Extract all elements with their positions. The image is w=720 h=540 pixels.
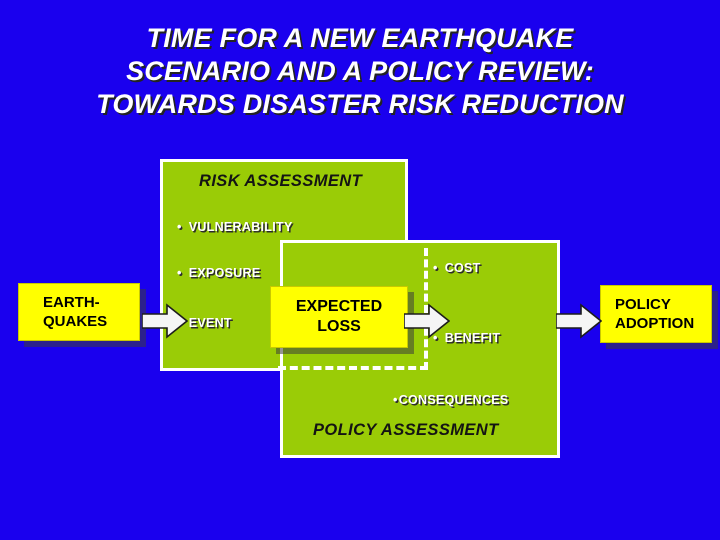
slide-canvas: TIME FOR A NEW EARTHQUAKE SCENARIO AND A… bbox=[0, 0, 720, 540]
bullet-dot-icon: • bbox=[177, 266, 182, 280]
arrow-right-icon-loss-to-policy bbox=[404, 303, 450, 339]
bullet-vulnerability: •VULNERABILITY bbox=[177, 220, 293, 234]
bullet-label: EXPOSURE bbox=[189, 266, 261, 280]
bullet-dot-icon: • bbox=[433, 261, 438, 275]
policy-adoption-label: POLICY ADOPTION bbox=[615, 295, 694, 333]
bullet-exposure: •EXPOSURE bbox=[177, 266, 261, 280]
bullet-dot-icon: • bbox=[177, 220, 182, 234]
bullet-dot-icon: • bbox=[393, 393, 398, 407]
bullet-label: CONSEQUENCES bbox=[399, 393, 509, 407]
bullet-consequences: •CONSEQUENCES bbox=[393, 393, 509, 407]
bullet-label: BENEFIT bbox=[445, 331, 501, 345]
expected-loss-box[interactable]: EXPECTED LOSS bbox=[270, 286, 408, 348]
page-title: TIME FOR A NEW EARTHQUAKE SCENARIO AND A… bbox=[0, 22, 720, 121]
bullet-label: EVENT bbox=[189, 316, 232, 330]
bullet-label: VULNERABILITY bbox=[189, 220, 293, 234]
policy-adoption-box[interactable]: POLICY ADOPTION bbox=[600, 285, 712, 343]
policy-assessment-heading: POLICY ASSESSMENT bbox=[313, 421, 499, 440]
risk-assessment-heading: RISK ASSESSMENT bbox=[199, 172, 362, 191]
expected-loss-label: EXPECTED LOSS bbox=[296, 297, 382, 337]
arrow-right-icon-earthquakes-to-risk bbox=[142, 303, 188, 339]
earthquakes-label: EARTH- QUAKES bbox=[43, 293, 107, 331]
arrow-right-icon-policy-to-adoption bbox=[556, 303, 602, 339]
policy-assessment-panel: •COST •BENEFIT •CONSEQUENCES POLICY ASSE… bbox=[280, 240, 560, 458]
bullet-cost: •COST bbox=[433, 261, 481, 275]
bullet-label: COST bbox=[445, 261, 481, 275]
earthquakes-box[interactable]: EARTH- QUAKES bbox=[18, 283, 140, 341]
